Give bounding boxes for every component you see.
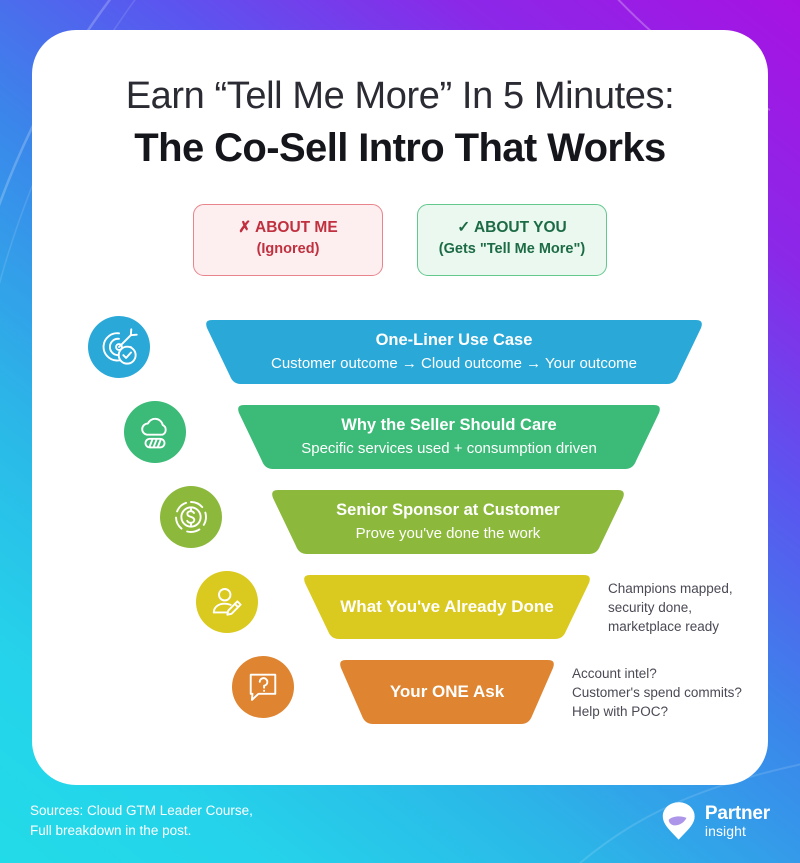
about-me-label: ✗ ABOUT ME <box>200 218 376 238</box>
funnel-bar-4: What You've Already Done <box>302 575 592 639</box>
page-title: Earn “Tell Me More” In 5 Minutes: The Co… <box>32 30 768 172</box>
funnel-step-4: What You've Already Done Champions mappe… <box>32 571 768 643</box>
title-line-1: Earn “Tell Me More” In 5 Minutes: <box>32 74 768 119</box>
funnel-step-5-title: Your ONE Ask <box>390 681 504 702</box>
funnel-bar-3: Senior Sponsor at Customer Prove you've … <box>270 490 626 554</box>
funnel-diagram: One-Liner Use Case Customer outcome → Cl… <box>32 316 768 728</box>
question-bubble-icon <box>232 656 294 718</box>
title-line-2: The Co-Sell Intro That Works <box>32 125 768 172</box>
person-pencil-icon <box>196 571 258 633</box>
footer: Sources: Cloud GTM Leader Course, Full b… <box>0 785 800 863</box>
brand-subtitle: insight <box>705 824 770 839</box>
about-you-label: ✓ ABOUT YOU <box>424 218 600 238</box>
funnel-bar-5: Your ONE Ask <box>338 660 556 724</box>
brand-logo: Partner insight <box>662 801 770 841</box>
funnel-step-2-title: Why the Seller Should Care <box>301 415 597 436</box>
funnel-bar-4-text: What You've Already Done <box>310 596 583 617</box>
target-arrow-check-icon <box>88 316 150 378</box>
about-me-sublabel: (Ignored) <box>200 240 376 260</box>
dollar-coin-icon <box>160 486 222 548</box>
about-you-sublabel: (Gets "Tell Me More") <box>424 240 600 260</box>
funnel-bar-2: Why the Seller Should Care Specific serv… <box>236 405 662 469</box>
funnel-bar-1-text: One-Liner Use Case Customer outcome → Cl… <box>225 330 683 373</box>
funnel-step-2-subtitle: Specific services used + consumption dri… <box>301 439 597 459</box>
funnel-bar-2-text: Why the Seller Should Care Specific serv… <box>255 415 643 458</box>
funnel-bar-3-text: Senior Sponsor at Customer Prove you've … <box>296 500 600 543</box>
partner-insight-logo <box>662 801 696 841</box>
about-you-box: ✓ ABOUT YOU (Gets "Tell Me More") <box>417 204 607 276</box>
sources-text: Sources: Cloud GTM Leader Course, Full b… <box>30 801 253 840</box>
funnel-step-1-title: One-Liner Use Case <box>271 330 637 351</box>
funnel-step-3-subtitle: Prove you've done the work <box>336 524 560 544</box>
funnel-step-3: Senior Sponsor at Customer Prove you've … <box>32 486 768 558</box>
funnel-step-2: Why the Seller Should Care Specific serv… <box>32 401 768 473</box>
funnel-step-4-note: Champions mapped, security done, marketp… <box>608 579 768 636</box>
funnel-step-5: Your ONE Ask Account intel? Customer's s… <box>32 656 768 728</box>
funnel-step-4-title: What You've Already Done <box>340 596 553 617</box>
funnel-step-3-title: Senior Sponsor at Customer <box>336 500 560 521</box>
brand-name: Partner <box>705 804 770 824</box>
about-me-box: ✗ ABOUT ME (Ignored) <box>193 204 383 276</box>
funnel-step-1: One-Liner Use Case Customer outcome → Cl… <box>32 316 768 388</box>
comparison-boxes: ✗ ABOUT ME (Ignored) ✓ ABOUT YOU (Gets "… <box>32 204 768 276</box>
funnel-step-5-note: Account intel? Customer's spend commits?… <box>572 664 772 721</box>
funnel-bar-1: One-Liner Use Case Customer outcome → Cl… <box>204 320 704 384</box>
main-card: Earn “Tell Me More” In 5 Minutes: The Co… <box>32 30 768 785</box>
brand-text: Partner insight <box>705 804 770 839</box>
funnel-step-1-subtitle: Customer outcome → Cloud outcome → Your … <box>271 354 637 374</box>
funnel-bar-5-text: Your ONE Ask <box>370 681 524 702</box>
cloud-rain-icon <box>124 401 186 463</box>
